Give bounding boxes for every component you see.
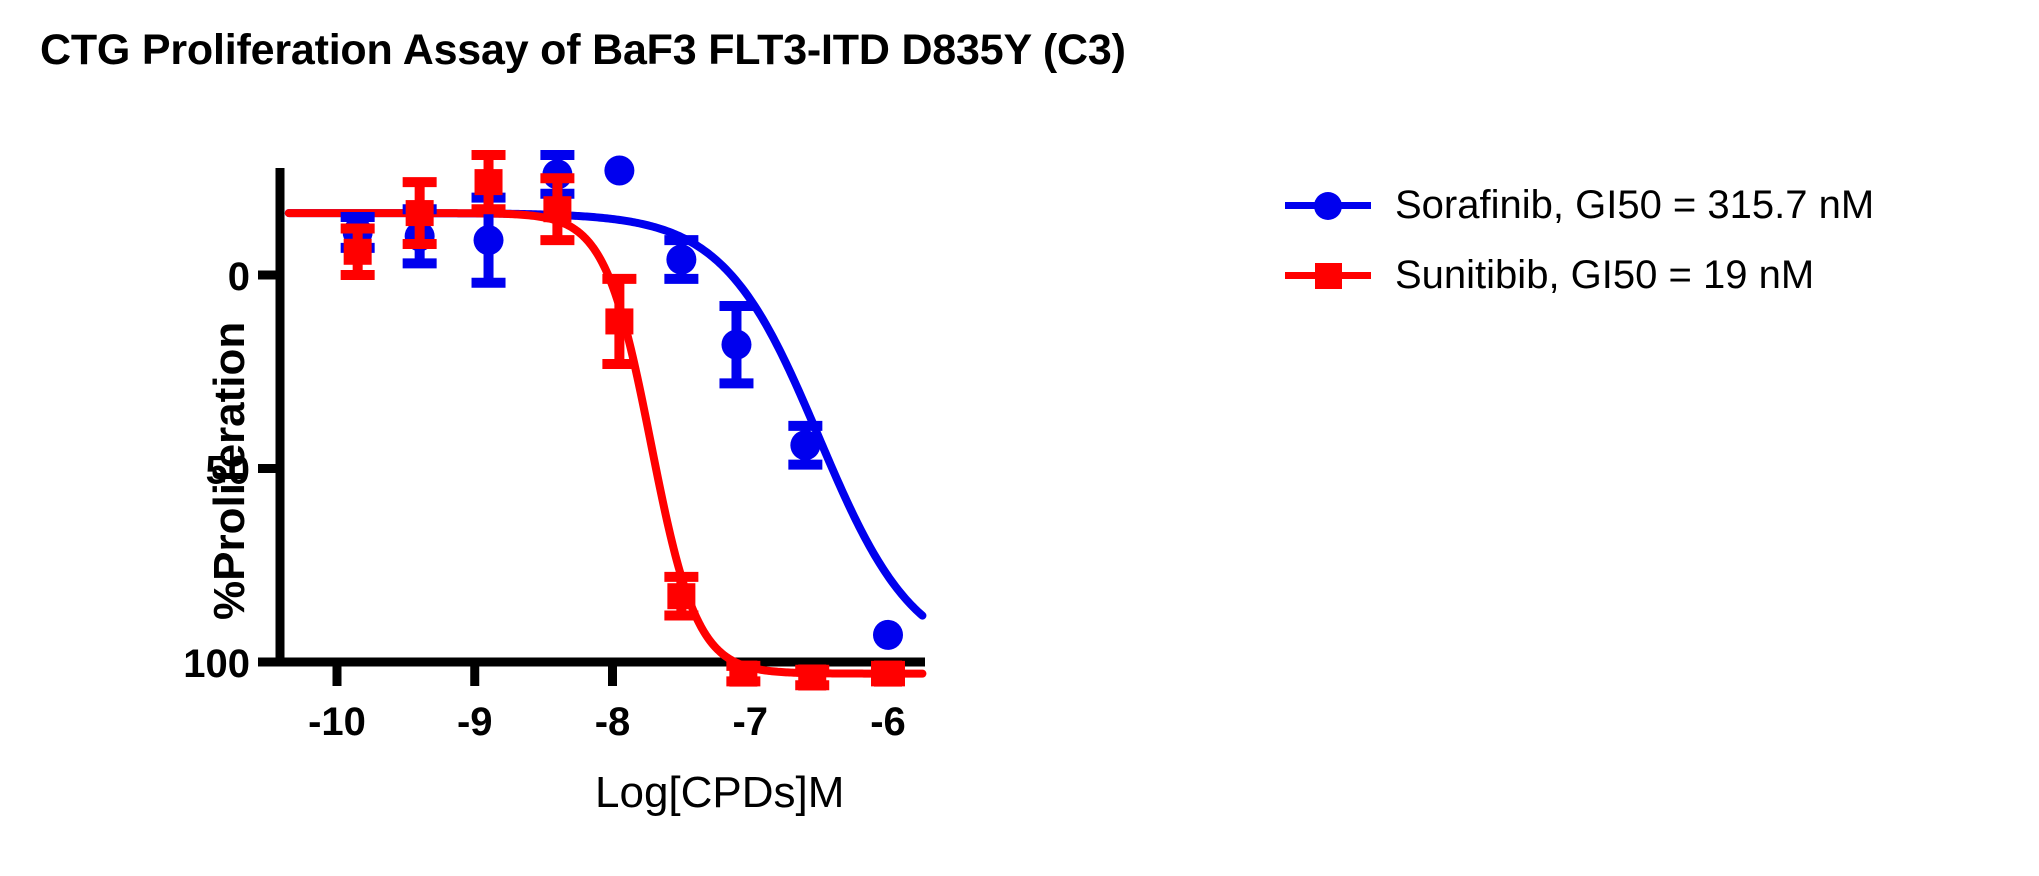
legend-item-sunitibib[interactable]: Sunitibib, GI50 = 19 nM xyxy=(1285,248,1874,302)
x-tick-label: -8 xyxy=(595,700,631,744)
data-point-marker xyxy=(543,196,571,222)
y-axis-title: %Proliferation xyxy=(205,322,255,620)
data-point-marker xyxy=(605,308,633,334)
legend-marker-circle-icon xyxy=(1285,185,1371,225)
data-point-marker xyxy=(798,664,826,690)
y-tick-label: 100 xyxy=(183,642,250,686)
legend-label-sorafinib: Sorafinib, GI50 = 315.7 nM xyxy=(1395,185,1874,225)
x-tick-label: -7 xyxy=(732,700,768,744)
legend-label-sunitibib: Sunitibib, GI50 = 19 nM xyxy=(1395,255,1814,295)
data-point-marker xyxy=(721,330,751,360)
plot-area: 100500-10-9-8-7-6 xyxy=(0,0,2039,876)
x-tick-label: -9 xyxy=(457,700,493,744)
chart-legend: Sorafinib, GI50 = 315.7 nM Sunitibib, GI… xyxy=(1285,178,1874,302)
data-point-marker xyxy=(406,200,434,226)
data-point-marker xyxy=(475,169,503,195)
data-point-marker xyxy=(344,239,372,265)
data-point-marker xyxy=(474,225,504,255)
data-point-marker xyxy=(729,661,757,687)
data-point-marker xyxy=(874,661,902,687)
data-point-marker xyxy=(666,245,696,275)
data-point-marker xyxy=(790,430,820,460)
data-points xyxy=(341,155,905,690)
x-tick-label: -10 xyxy=(308,700,366,744)
data-point-marker xyxy=(604,156,634,186)
data-point-marker xyxy=(667,583,695,609)
legend-marker-square-icon xyxy=(1285,255,1371,295)
chart-figure: CTG Proliferation Assay of BaF3 FLT3-ITD… xyxy=(0,0,2039,876)
data-point-marker xyxy=(873,620,903,650)
legend-item-sorafinib[interactable]: Sorafinib, GI50 = 315.7 nM xyxy=(1285,178,1874,232)
y-tick-label: 0 xyxy=(228,255,250,299)
x-axis-title: Log[CPDs]M xyxy=(595,768,844,818)
x-tick-label: -6 xyxy=(870,700,906,744)
